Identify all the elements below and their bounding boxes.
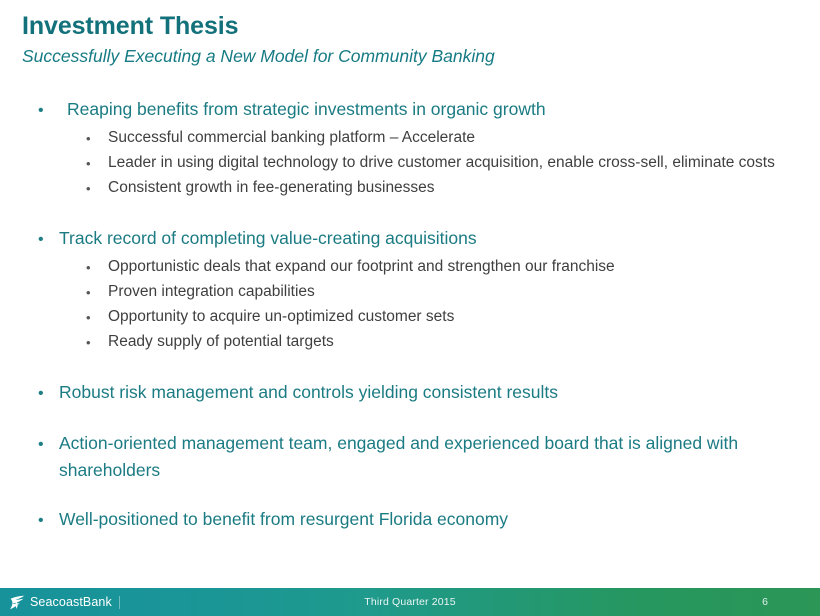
list-item-label: Action-oriented management team, engaged… <box>59 430 820 484</box>
bullet-marker: • <box>86 151 108 176</box>
title-block: Investment Thesis Successfully Executing… <box>22 12 802 66</box>
bullet-group: • Well-positioned to benefit from resurg… <box>0 506 820 535</box>
slide-footer: SeacoastBank Third Quarter 2015 6 <box>0 588 820 616</box>
list-item-label: Ready supply of potential targets <box>108 330 820 355</box>
bullet-group: • Action-oriented management team, engag… <box>0 430 820 484</box>
list-item: • Successful commercial banking platform… <box>0 126 820 151</box>
page-number: 6 <box>762 596 768 608</box>
bullet-marker: • <box>86 255 108 280</box>
spacer <box>0 201 820 225</box>
list-item-label: Track record of completing value-creatin… <box>59 225 820 252</box>
list-item: • Leader in using digital technology to … <box>0 151 820 176</box>
list-item-label: Robust risk management and controls yiel… <box>59 379 820 406</box>
bullet-body: • Reaping benefits from strategic invest… <box>0 96 820 535</box>
spacer <box>0 484 820 506</box>
bullet-group: • Robust risk management and controls yi… <box>0 379 820 408</box>
list-item: • Opportunistic deals that expand our fo… <box>0 255 820 280</box>
sub-list: • Opportunistic deals that expand our fo… <box>0 255 820 355</box>
bullet-marker: • <box>86 330 108 355</box>
list-item-label: Reaping benefits from strategic investme… <box>59 96 820 123</box>
spacer <box>0 408 820 430</box>
spacer <box>0 355 820 379</box>
list-item-label: Consistent growth in fee-generating busi… <box>108 176 820 201</box>
bullet-marker: • <box>86 176 108 201</box>
list-item-label: Opportunity to acquire un-optimized cust… <box>108 305 820 330</box>
list-item-label: Well-positioned to benefit from resurgen… <box>59 506 820 533</box>
list-item: • Opportunity to acquire un-optimized cu… <box>0 305 820 330</box>
page-subtitle: Successfully Executing a New Model for C… <box>22 46 802 66</box>
footer-period-label: Third Quarter 2015 <box>0 596 820 608</box>
list-item: • Reaping benefits from strategic invest… <box>0 96 820 125</box>
list-item-label: Successful commercial banking platform –… <box>108 126 820 151</box>
bullet-marker: • <box>38 379 59 408</box>
list-item: • Consistent growth in fee-generating bu… <box>0 176 820 201</box>
list-item-label: Leader in using digital technology to dr… <box>108 151 820 176</box>
bullet-marker: • <box>38 225 59 254</box>
bullet-marker: • <box>38 506 59 535</box>
bullet-marker: • <box>86 305 108 330</box>
bullet-group: • Track record of completing value-creat… <box>0 225 820 355</box>
sub-list: • Successful commercial banking platform… <box>0 126 820 201</box>
page-title: Investment Thesis <box>22 12 802 40</box>
list-item: • Action-oriented management team, engag… <box>0 430 820 484</box>
slide: Investment Thesis Successfully Executing… <box>0 0 820 616</box>
list-item: • Proven integration capabilities <box>0 280 820 305</box>
list-item-label: Proven integration capabilities <box>108 280 820 305</box>
list-item: • Ready supply of potential targets <box>0 330 820 355</box>
bullet-marker: • <box>38 96 59 125</box>
list-item: • Robust risk management and controls yi… <box>0 379 820 408</box>
list-item: • Well-positioned to benefit from resurg… <box>0 506 820 535</box>
list-item-label: Opportunistic deals that expand our foot… <box>108 255 820 280</box>
bullet-marker: • <box>86 126 108 151</box>
bullet-marker: • <box>38 430 59 459</box>
bullet-marker: • <box>86 280 108 305</box>
bullet-group: • Reaping benefits from strategic invest… <box>0 96 820 201</box>
list-item: • Track record of completing value-creat… <box>0 225 820 254</box>
